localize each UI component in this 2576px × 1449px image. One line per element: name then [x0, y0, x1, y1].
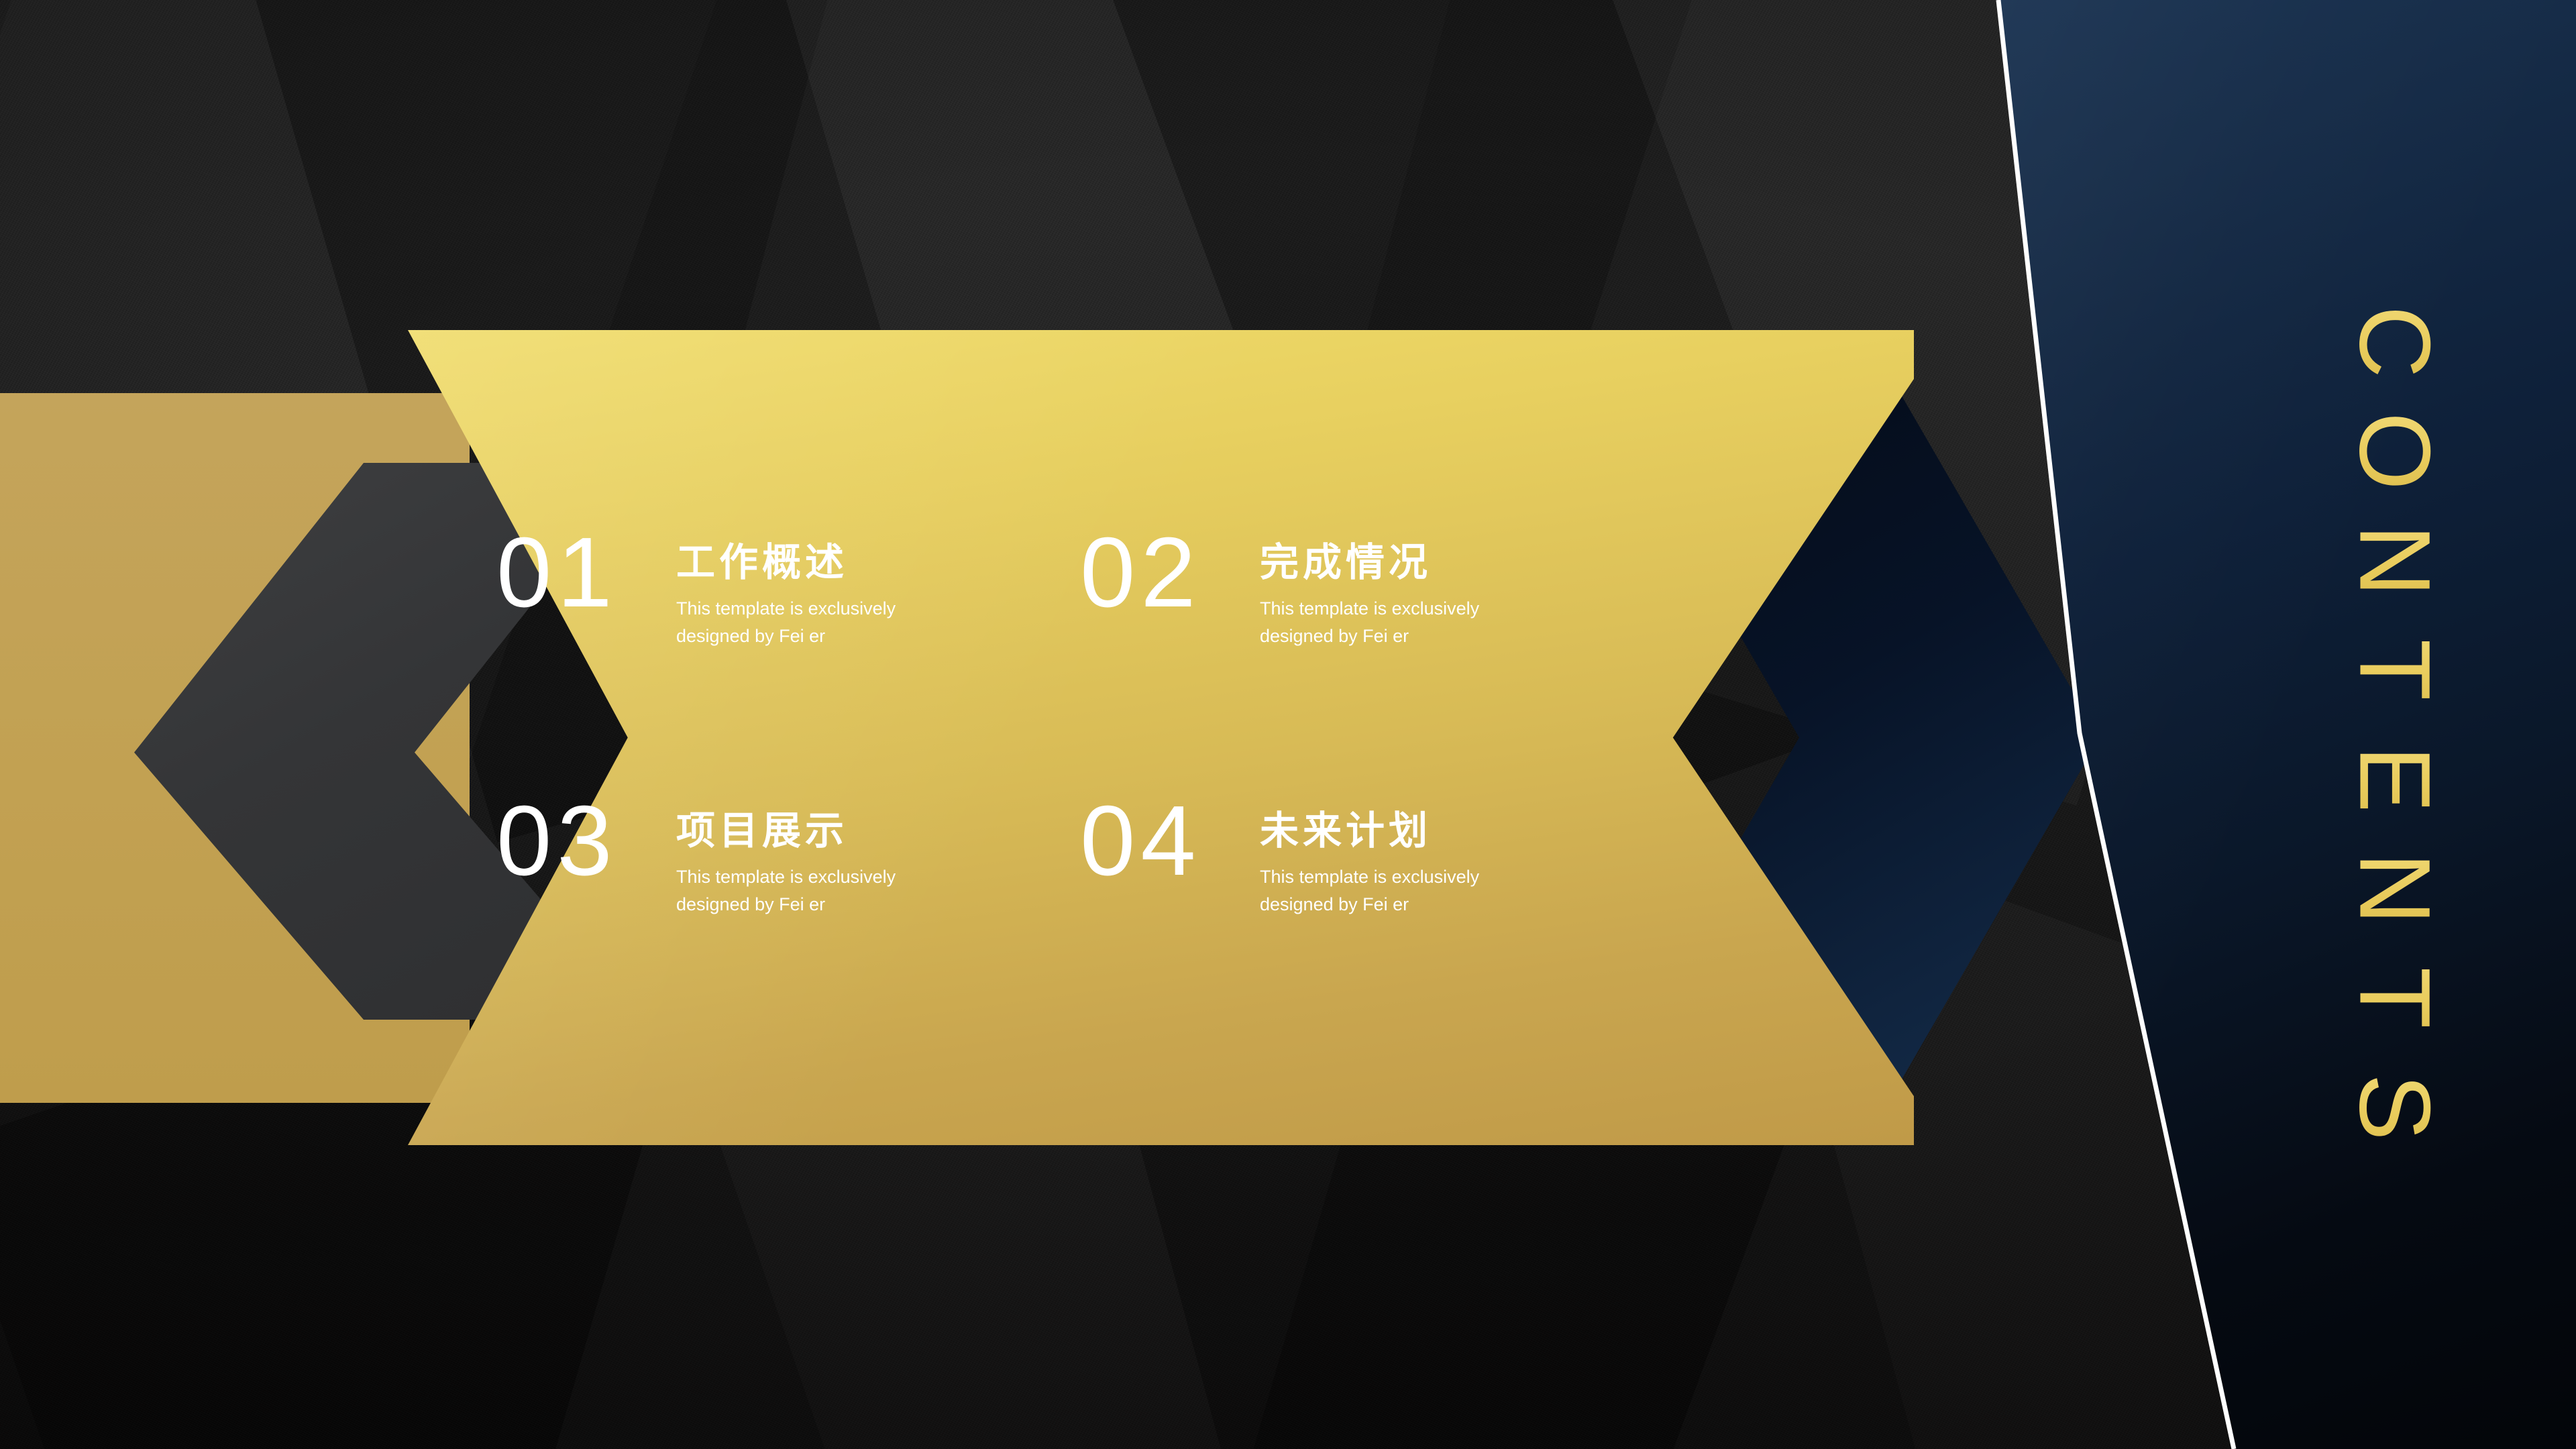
- contents-slide: C O N T E N T S 01 工作概述 This template is…: [0, 0, 2576, 1449]
- agenda-item-description: This template is exclusively designed by…: [1260, 595, 1488, 650]
- agenda-item-title: 项目展示: [676, 810, 904, 853]
- contents-letter: T: [2354, 941, 2436, 1055]
- agenda-item-title: 完成情况: [1260, 542, 1488, 584]
- agenda-item-number: 04: [1080, 792, 1260, 891]
- agenda-item-number: 02: [1080, 523, 1260, 623]
- contents-letter: N: [2354, 832, 2436, 946]
- agenda-item[interactable]: 02 完成情况 This template is exclusively des…: [1080, 530, 1543, 798]
- contents-letter: T: [2354, 613, 2436, 727]
- agenda-items: 01 工作概述 This template is exclusively des…: [496, 530, 1543, 1067]
- agenda-item-number: 03: [496, 792, 676, 891]
- contents-letter: O: [2354, 394, 2436, 508]
- agenda-item-title: 工作概述: [676, 542, 904, 584]
- agenda-item-number: 01: [496, 523, 676, 623]
- contents-letter: E: [2354, 722, 2436, 837]
- agenda-item[interactable]: 03 项目展示 This template is exclusively des…: [496, 798, 1080, 1067]
- agenda-item[interactable]: 01 工作概述 This template is exclusively des…: [496, 530, 1080, 798]
- agenda-item-description: This template is exclusively designed by…: [676, 595, 904, 650]
- agenda-item-description: This template is exclusively designed by…: [676, 863, 904, 918]
- contents-vertical-label: C O N T E N T S: [2214, 0, 2576, 1449]
- agenda-item[interactable]: 04 未来计划 This template is exclusively des…: [1080, 798, 1543, 1067]
- contents-letter: C: [2354, 285, 2436, 399]
- agenda-item-description: This template is exclusively designed by…: [1260, 863, 1488, 918]
- contents-letter: N: [2354, 504, 2436, 618]
- agenda-item-title: 未来计划: [1260, 810, 1488, 853]
- agenda-item-body: 项目展示 This template is exclusively design…: [676, 798, 904, 918]
- agenda-item-body: 完成情况 This template is exclusively design…: [1260, 530, 1488, 650]
- agenda-item-body: 工作概述 This template is exclusively design…: [676, 530, 904, 650]
- contents-letter: S: [2354, 1051, 2436, 1165]
- agenda-item-body: 未来计划 This template is exclusively design…: [1260, 798, 1488, 918]
